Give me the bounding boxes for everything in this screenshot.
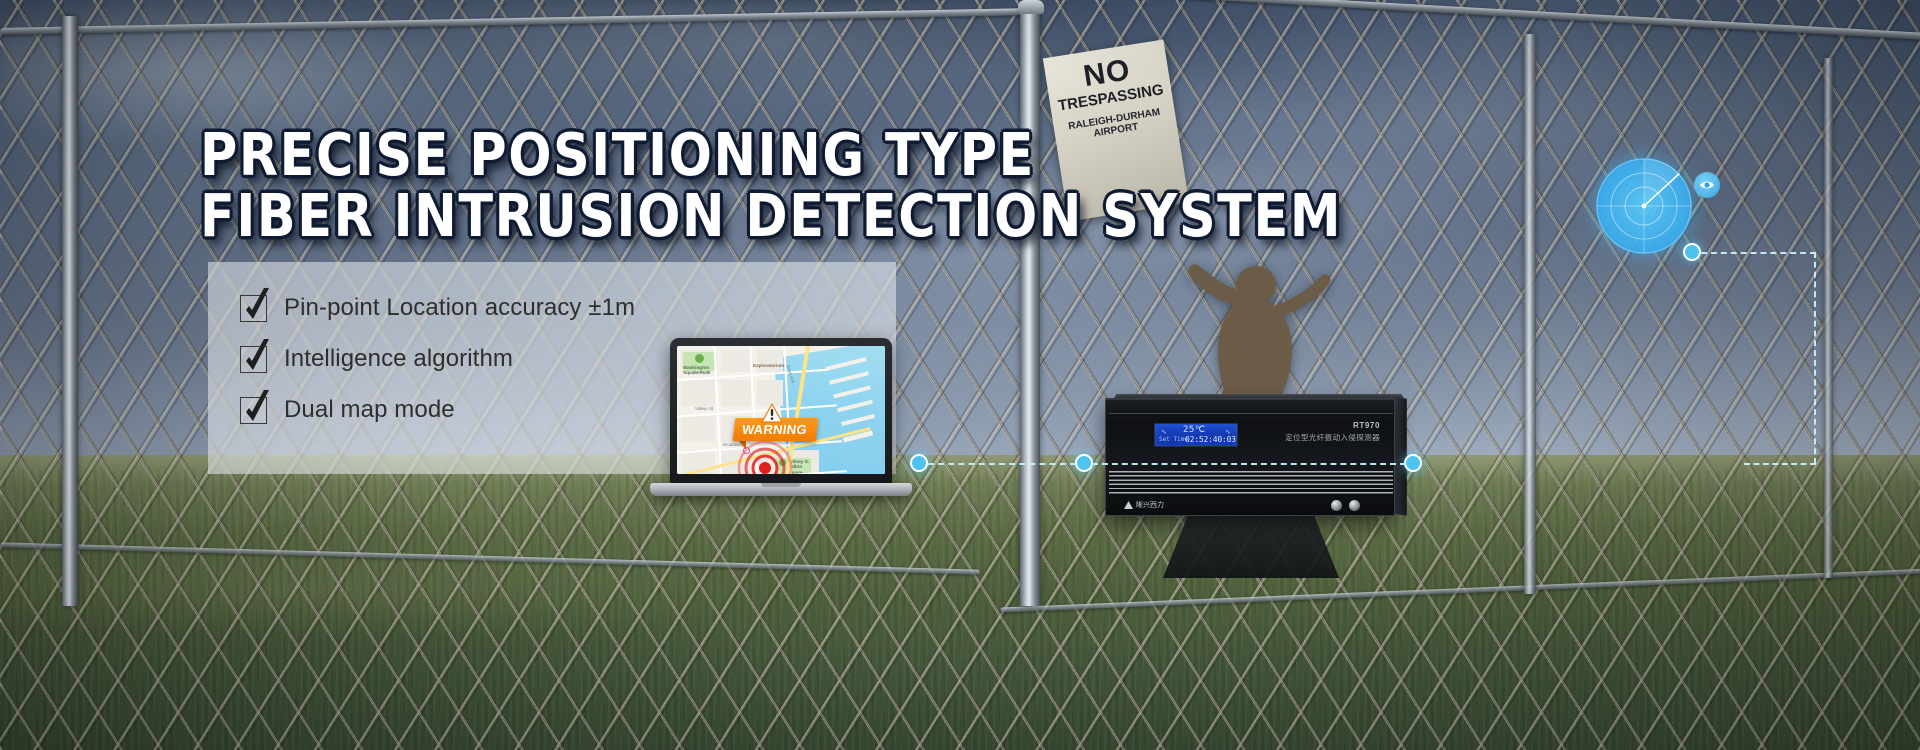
device-knob-icon[interactable] bbox=[1331, 500, 1342, 511]
device-stand bbox=[1163, 516, 1339, 578]
map-block bbox=[721, 380, 751, 406]
fence-post-left bbox=[62, 16, 78, 606]
map-block bbox=[681, 416, 715, 442]
checkbox-checked-icon bbox=[240, 397, 267, 424]
lcd-clock: 02:52:40:03 bbox=[1185, 435, 1236, 444]
laptop-screen: Washington Square Park Sydney G. Walton … bbox=[677, 346, 885, 474]
device-knob-group bbox=[1331, 500, 1360, 511]
device-brand-logo: 晰兴西力 bbox=[1124, 500, 1164, 510]
lcd-row-label: Set Time bbox=[1159, 436, 1188, 443]
map-label: Exploratorium bbox=[753, 363, 784, 368]
lcd-wave-left-icon: ∿ bbox=[1161, 428, 1167, 436]
device-ventilation-grille bbox=[1109, 471, 1393, 495]
map-block bbox=[757, 350, 783, 372]
fence-post-cap bbox=[1018, 0, 1044, 14]
feature-list: Pin-point Location accuracy ±1m Intellig… bbox=[240, 294, 635, 424]
checkbox-checked-icon bbox=[240, 295, 267, 322]
checkbox-checked-icon bbox=[240, 346, 267, 373]
lcd-temperature: 25℃ bbox=[1183, 425, 1205, 435]
brand-mark-icon bbox=[1124, 501, 1133, 509]
device-front-panel: ∿ 25℃ ∿ Set Time 02:52:40:03 RT970 定位型光纤… bbox=[1105, 398, 1395, 516]
laptop-device: Washington Square Park Sydney G. Walton … bbox=[650, 338, 912, 524]
feature-label: Intelligence algorithm bbox=[284, 345, 513, 373]
warning-triangle-icon bbox=[761, 403, 783, 423]
map-street-label: Green St bbox=[693, 370, 711, 375]
alert-radar-target bbox=[737, 438, 793, 474]
hero-banner: NO TRESPASSING RALEIGH-DURHAM AIRPORT PR… bbox=[0, 0, 1920, 750]
device-subtitle-cn: 定位型光纤振动入侵探测器 bbox=[1285, 432, 1380, 443]
fence-post-right bbox=[1524, 34, 1536, 594]
headline-line-1: PRECISE POSITIONING TYPE bbox=[200, 125, 1342, 186]
device-hairline bbox=[1109, 413, 1393, 414]
laptop-lid: Washington Square Park Sydney G. Walton … bbox=[670, 338, 892, 484]
fiber-detection-unit: ∿ 25℃ ∿ Set Time 02:52:40:03 RT970 定位型光纤… bbox=[1105, 390, 1410, 522]
device-knob-icon[interactable] bbox=[1349, 500, 1360, 511]
headline-line-2: FIBER INTRUSION DETECTION SYSTEM bbox=[200, 186, 1342, 247]
map-block bbox=[721, 350, 751, 372]
map-block bbox=[681, 380, 715, 406]
feature-item: Intelligence algorithm bbox=[240, 345, 635, 373]
feature-label: Dual map mode bbox=[284, 396, 455, 424]
fence-post-far-right bbox=[1824, 58, 1833, 578]
feature-label: Pin-point Location accuracy ±1m bbox=[284, 294, 635, 322]
device-model-label: RT970 bbox=[1353, 421, 1380, 430]
map-street-label: Vallejo St bbox=[695, 406, 713, 411]
laptop-trackpad-notch bbox=[761, 483, 801, 487]
park-marker-icon bbox=[695, 354, 704, 363]
feature-item: Pin-point Location accuracy ±1m bbox=[240, 294, 635, 322]
device-brand-text: 晰兴西力 bbox=[1136, 500, 1164, 510]
device-side-panel bbox=[1394, 398, 1407, 515]
fence-post-center bbox=[1020, 6, 1040, 606]
page-title: PRECISE POSITIONING TYPE FIBER INTRUSION… bbox=[200, 125, 1342, 247]
feature-item: Dual map mode bbox=[240, 396, 635, 424]
device-lcd-display: ∿ 25℃ ∿ Set Time 02:52:40:03 bbox=[1154, 423, 1238, 447]
